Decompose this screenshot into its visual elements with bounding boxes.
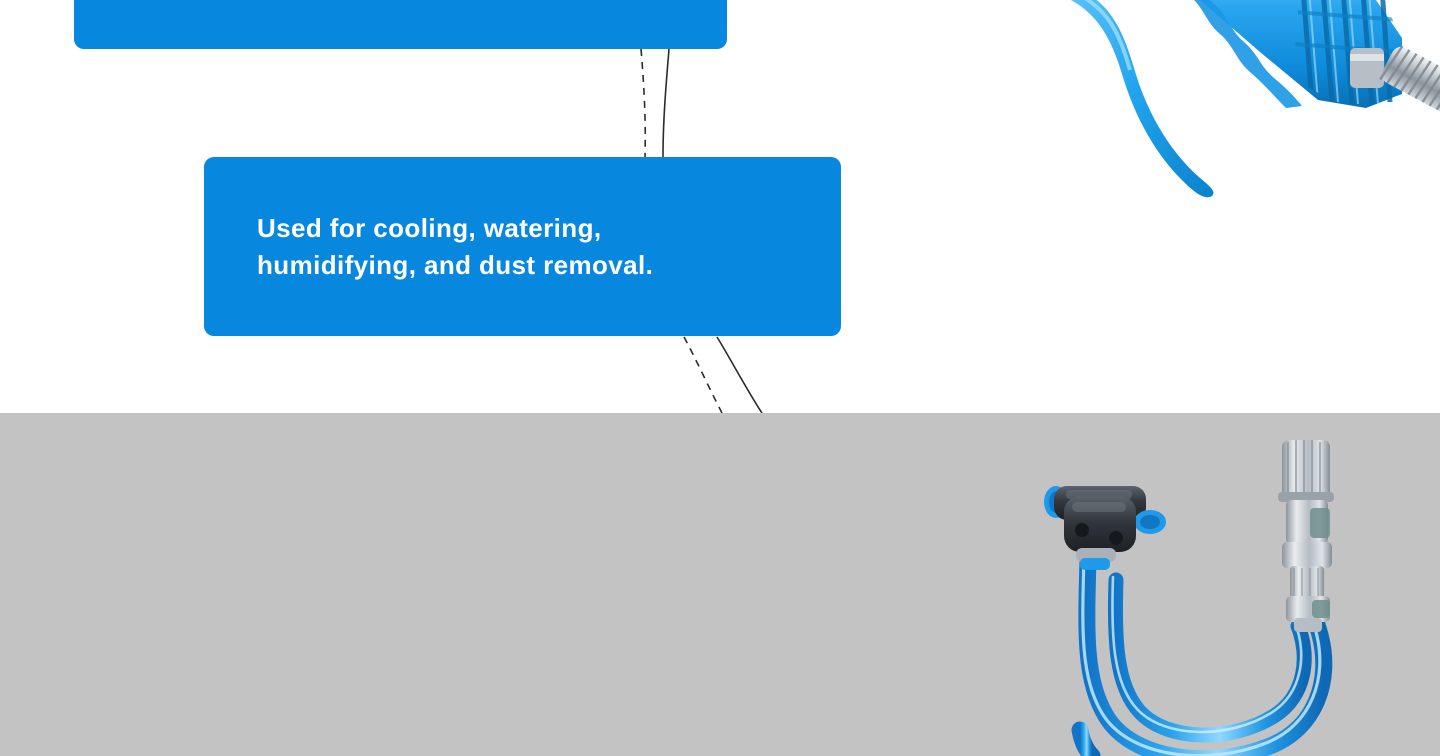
product-feature-page: Used for cooling, watering, humidifying,… [0, 0, 1440, 756]
callout-usage[interactable]: Used for cooling, watering, humidifying,… [204, 157, 841, 336]
dashed-connector-line-lower [684, 337, 722, 413]
air-hose-assembly-image [1020, 430, 1440, 756]
callout-top-clipped[interactable] [74, 0, 727, 49]
air-blow-gun-image [1050, 0, 1440, 212]
callout-usage-text: Used for cooling, watering, humidifying,… [204, 210, 683, 284]
solid-connector-line-lower [717, 337, 762, 413]
solid-connector-line [663, 49, 669, 157]
t-push-fit-connector [1044, 486, 1166, 570]
air-hose-inner-strand [1115, 580, 1304, 735]
upper-white-section: Used for cooling, watering, humidifying,… [0, 0, 1440, 413]
trigger-lever [1058, 0, 1214, 197]
lower-grey-section: 1. Quick Connectors Equipped with quick … [0, 413, 1440, 756]
quick-coupler [1278, 440, 1334, 632]
dashed-connector-line [641, 49, 645, 157]
